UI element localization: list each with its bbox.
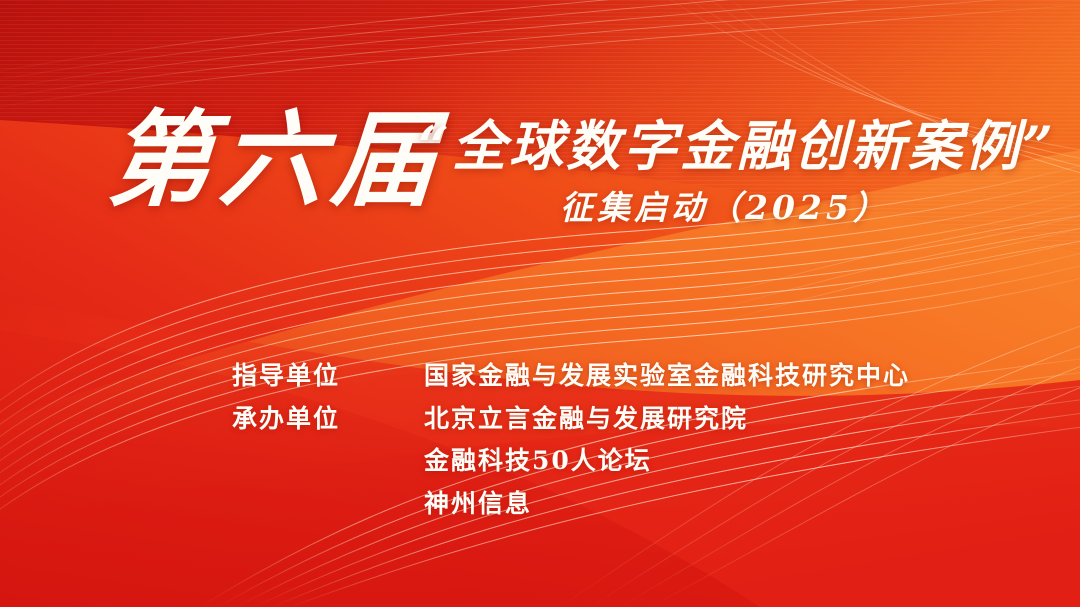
credit-value-forum: 金融科技50人论坛 xyxy=(424,445,910,477)
credit-label-organizer: 承办单位 xyxy=(232,403,424,435)
credit-value-company: 神州信息 xyxy=(424,488,910,520)
credit-label-guidance: 指导单位 xyxy=(232,360,424,392)
poster-canvas: 第六届 “全球数字金融创新案例” 征集启动（2025） 指导单位 国家金融与发展… xyxy=(0,0,1080,607)
headline-title: “全球数字金融创新案例” xyxy=(418,118,1056,175)
credit-value-organizer: 北京立言金融与发展研究院 xyxy=(424,403,910,435)
credits-block: 指导单位 国家金融与发展实验室金融科技研究中心 承办单位 北京立言金融与发展研究… xyxy=(232,360,910,519)
subheadline-year: 征集启动（2025） xyxy=(560,190,890,226)
edition-title: 第六届 xyxy=(104,108,447,212)
credit-value-guidance: 国家金融与发展实验室金融科技研究中心 xyxy=(424,360,910,392)
